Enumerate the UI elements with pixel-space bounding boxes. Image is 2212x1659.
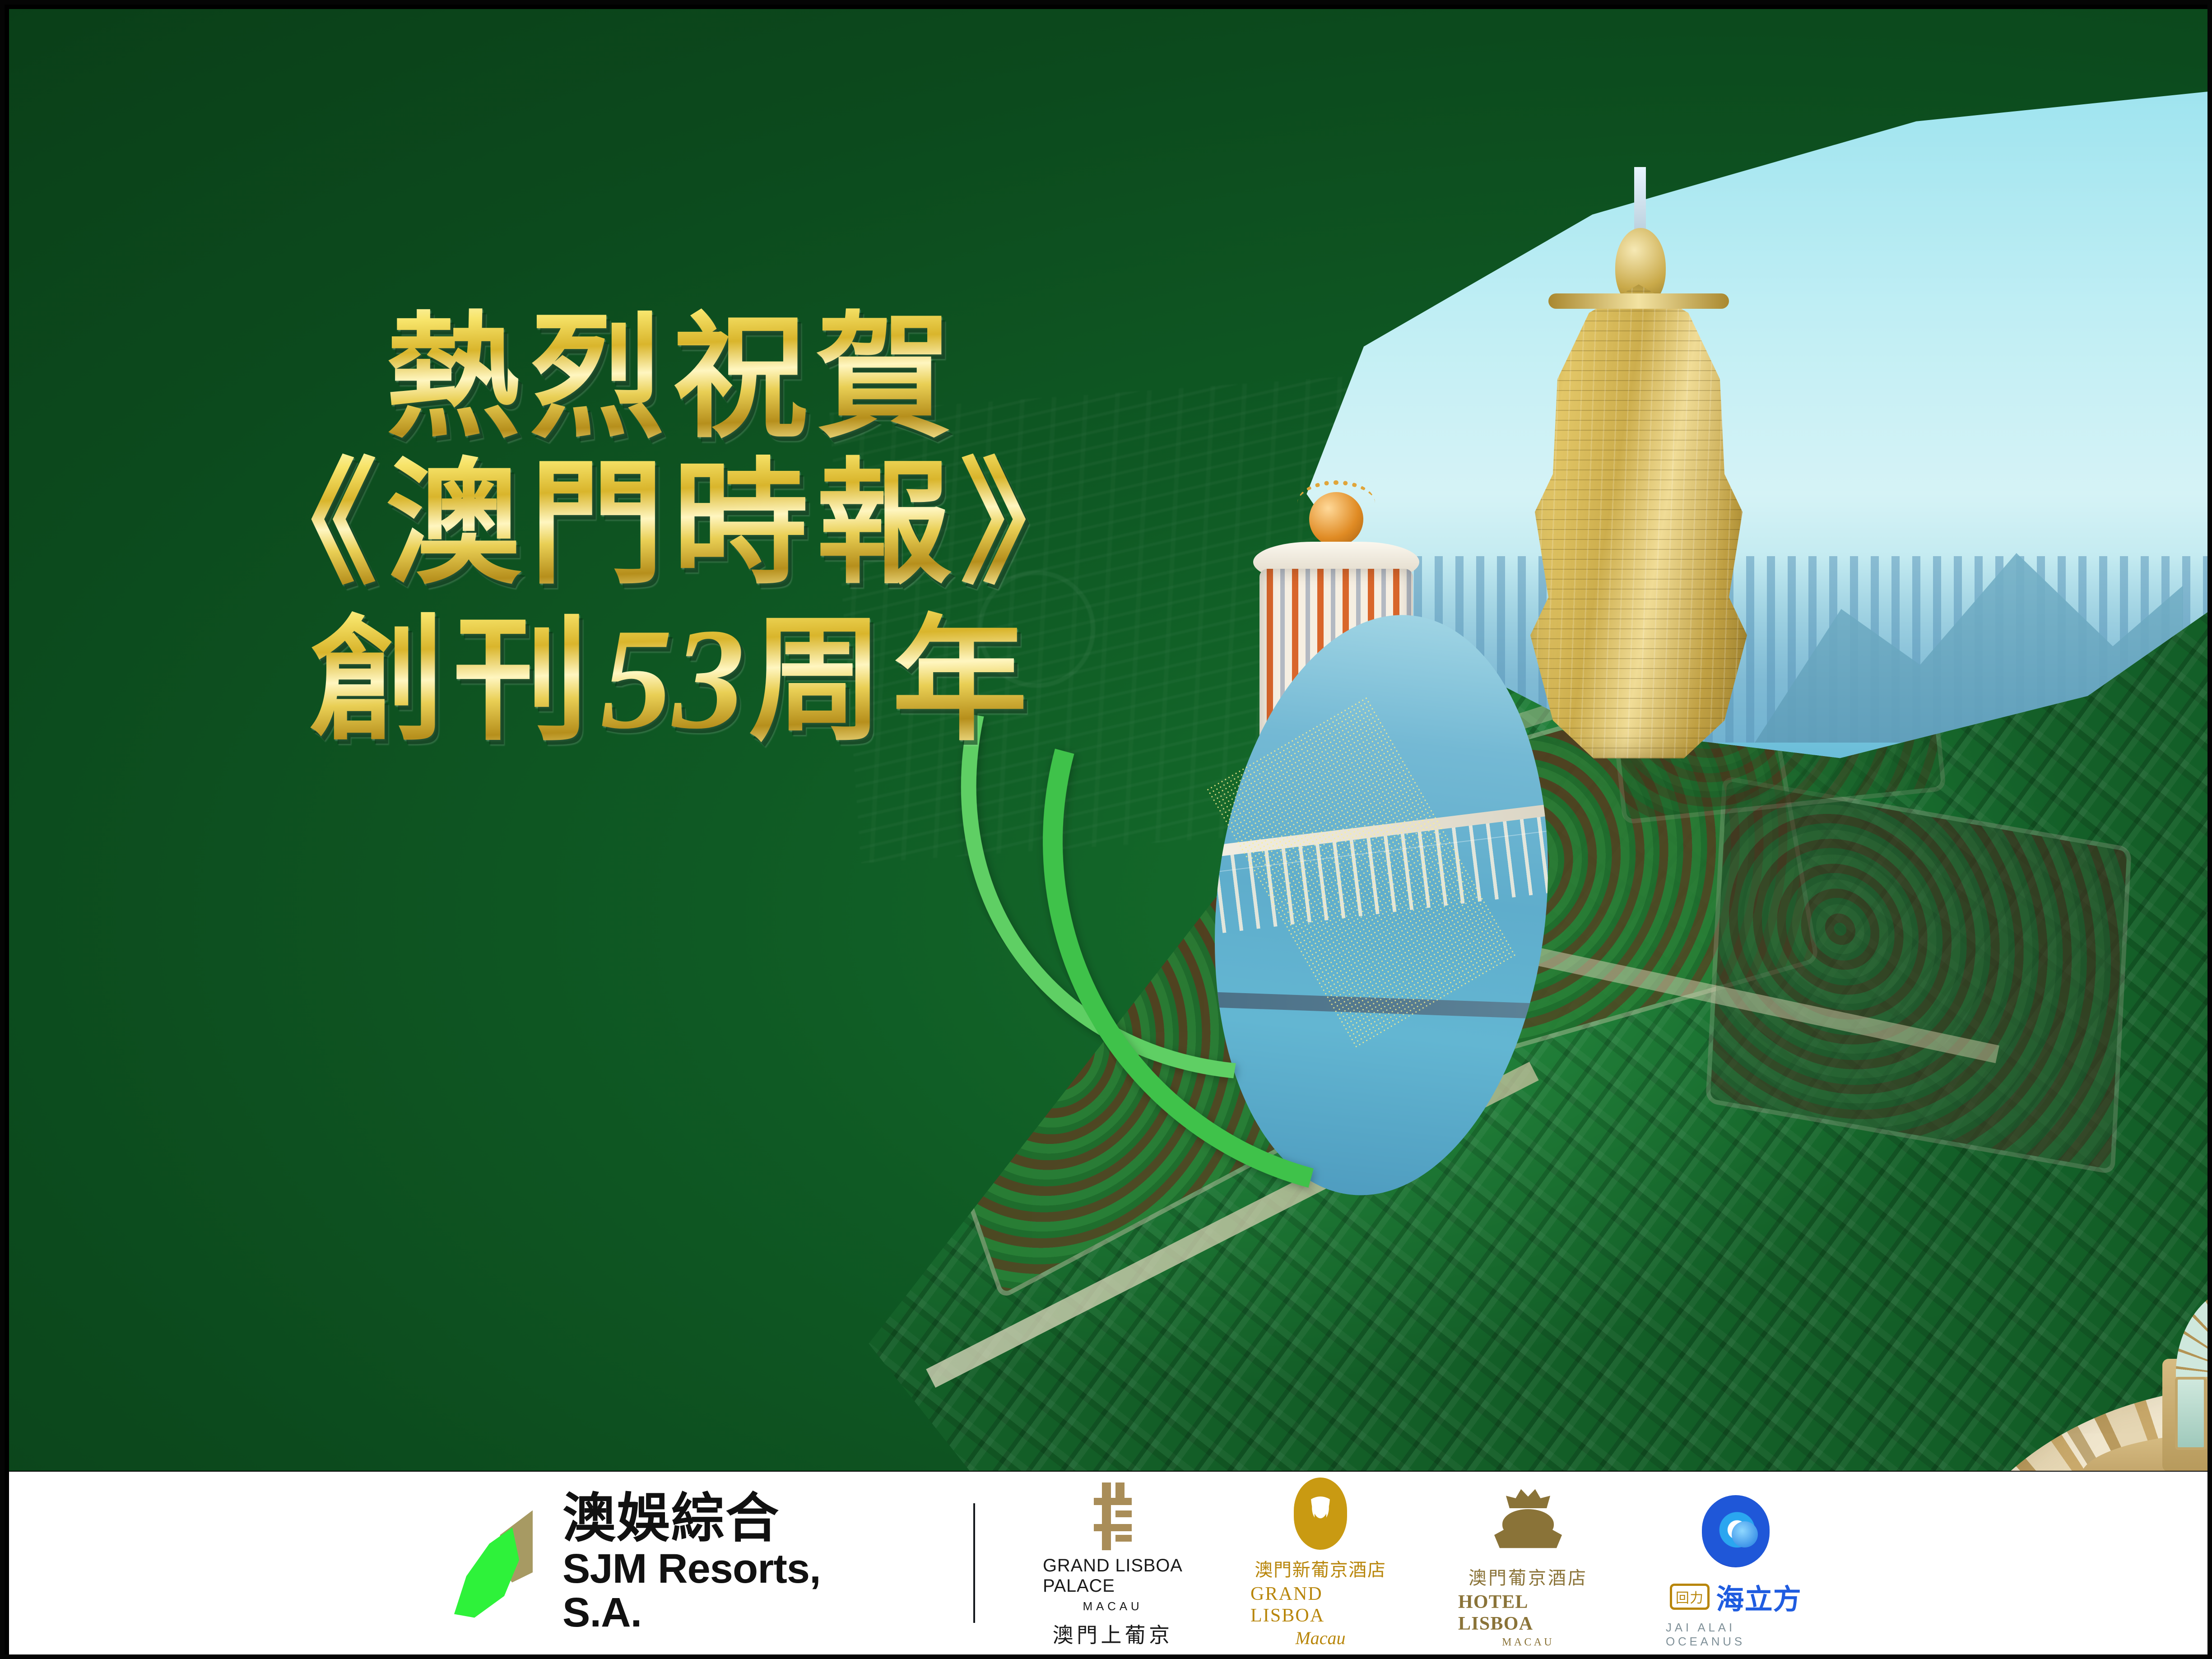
grand-lisboa-lotus-emblem-icon	[1294, 1478, 1347, 1550]
jao-english-name: JAI ALAI OCEANUS	[1666, 1621, 1806, 1649]
brand-grand-lisboa[interactable]: 澳門新葡京酒店 GRAND LISBOA Macau	[1250, 1478, 1390, 1649]
brand-grand-lisboa-palace[interactable]: GRAND LISBOA PALACE MACAU 澳門上葡京	[1043, 1478, 1183, 1649]
hotel-lisboa-crest-icon	[1494, 1486, 1562, 1558]
glp-english-name: GRAND LISBOA PALACE	[1043, 1556, 1183, 1596]
brand-logo-row: GRAND LISBOA PALACE MACAU 澳門上葡京 澳門新葡京酒店 …	[1043, 1478, 1806, 1649]
crest-ribbon	[1494, 1529, 1562, 1549]
brand-hotel-lisboa[interactable]: 澳門葡京酒店 HOTEL LISBOA MACAU	[1458, 1486, 1598, 1649]
headline-line-2: 《澳門時報》	[199, 451, 1147, 599]
dome-window	[2175, 1377, 2207, 1450]
gl-english-name: GRAND LISBOA	[1250, 1583, 1390, 1626]
palace-dome	[1932, 1296, 2212, 1471]
tower-spire	[1634, 167, 1646, 235]
gl-chinese-name: 澳門新葡京酒店	[1255, 1555, 1386, 1581]
anniversary-poster: 熱烈祝賀 《澳門時報》 創刊53周年 澳娛綜合 SJM Resorts, S.A…	[0, 0, 2212, 1659]
green-leaf-shape	[454, 1528, 522, 1618]
headline-suffix: 周年	[748, 607, 1036, 757]
tower-crown-ornament	[1309, 492, 1363, 546]
hero-panel: 熱烈祝賀 《澳門時報》 創刊53周年	[9, 9, 2212, 1471]
brand-jai-alai-oceanus[interactable]: 回力 海立方 JAI ALAI OCEANUS	[1666, 1495, 1806, 1649]
hl-chinese-name: 澳門葡京酒店	[1468, 1563, 1588, 1589]
parterre-bed	[1710, 781, 2127, 1170]
hl-english-name: HOTEL LISBOA	[1458, 1591, 1598, 1635]
glp-city: MACAU	[1083, 1599, 1143, 1613]
sjm-english-name: SJM Resorts, S.A.	[562, 1547, 906, 1634]
sjm-chinese-name: 澳娛綜合	[562, 1492, 906, 1545]
bridge-deck-lower	[1179, 991, 1563, 1020]
tower-signage-band	[1548, 293, 1729, 309]
dome-cupola	[2176, 1282, 2212, 1377]
anniversary-number: 53	[597, 599, 748, 759]
headline-line-3: 創刊53周年	[199, 599, 1147, 758]
hl-city: MACAU	[1502, 1636, 1554, 1649]
crest-crown	[1506, 1487, 1550, 1508]
footer-divider	[973, 1503, 975, 1623]
gl-city: Macau	[1295, 1627, 1345, 1649]
sjm-leaf-logo-icon	[451, 1507, 542, 1620]
headline-block: 熱烈祝賀 《澳門時報》 創刊53周年	[199, 307, 1147, 758]
grand-lisboa-tower	[1499, 158, 1779, 758]
jao-chinese-name: 海立方	[1716, 1576, 1802, 1617]
footer-logo-bar: 澳娛綜合 SJM Resorts, S.A.	[9, 1472, 2212, 1654]
jai-alai-oceanus-wave-icon	[1702, 1495, 1770, 1567]
sjm-resorts-lockup[interactable]: 澳娛綜合 SJM Resorts, S.A.	[451, 1492, 906, 1634]
jao-huili-badge: 回力	[1670, 1584, 1710, 1610]
headline-line-1: 熱烈祝賀	[199, 307, 1147, 451]
headline-prefix: 創刊	[310, 607, 597, 757]
glp-chinese-name: 澳門上葡京	[1053, 1619, 1173, 1649]
grand-lisboa-palace-emblem-icon	[1094, 1482, 1132, 1550]
tower-facade-ribs	[1526, 284, 1752, 758]
